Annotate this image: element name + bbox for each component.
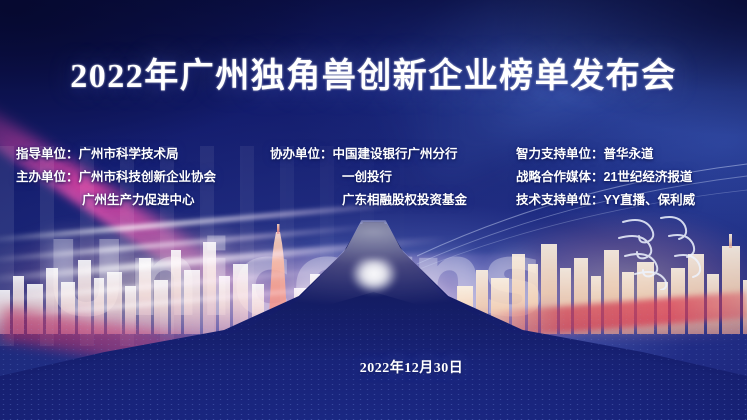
credits-column-right: 智力支持单位：普华永道 战略合作媒体：21世纪经济报道 技术支持单位：YY直播、… xyxy=(516,143,695,212)
credit-line-host-unit: 主办单位：广州市科技创新企业协会 xyxy=(16,166,266,189)
credit-line-media-partner: 战略合作媒体：21世纪经济报道 xyxy=(516,166,695,189)
event-poster: Unicorns xyxy=(0,0,747,420)
event-date-text: 2022年12月30日 xyxy=(360,361,464,376)
poster-content: 2022年广州独角兽创新企业榜单发布会 指导单位：广州市科学技术局 主办单位：广… xyxy=(0,0,747,420)
credits-column-left: 指导单位：广州市科学技术局 主办单位：广州市科技创新企业协会 广州生产力促进中心 xyxy=(16,143,266,212)
credit-line-coorganizer: 协办单位：中国建设银行广州分行 xyxy=(270,143,508,166)
credits-block: 指导单位：广州市科学技术局 主办单位：广州市科技创新企业协会 广州生产力促进中心… xyxy=(0,143,747,212)
credit-line-guidance-unit: 指导单位：广州市科学技术局 xyxy=(16,143,266,166)
event-date: 2022年12月30日 xyxy=(0,357,747,377)
credit-line-tech-support: 技术支持单位：YY直播、保利威 xyxy=(516,189,695,212)
credits-column-middle: 协办单位：中国建设银行广州分行 一创投行 广东相融股权投资基金 xyxy=(270,143,508,212)
credit-line-coorganizer-2: 一创投行 xyxy=(270,166,508,189)
credit-line-host-unit-2: 广州生产力促进中心 xyxy=(16,189,266,212)
credit-line-coorganizer-3: 广东相融股权投资基金 xyxy=(270,189,508,212)
page-title: 2022年广州独角兽创新企业榜单发布会 xyxy=(0,48,747,97)
credit-line-intellectual-support: 智力支持单位：普华永道 xyxy=(516,143,695,166)
